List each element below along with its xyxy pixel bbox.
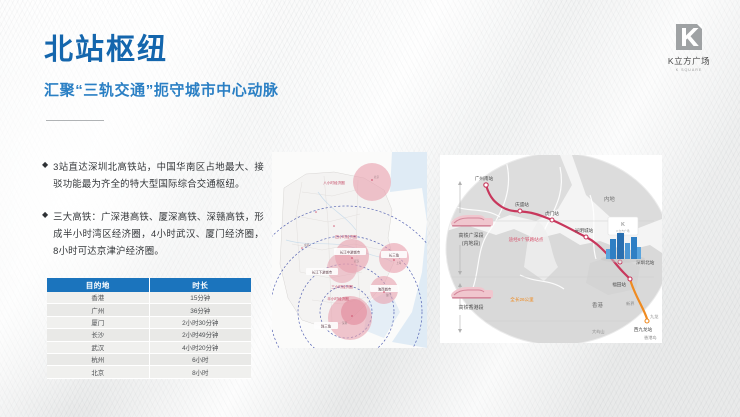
station-dot-qingsheng [518, 209, 522, 213]
logo-k-icon [674, 22, 704, 52]
note-mainland: 途经6个铁路站点 [509, 236, 544, 243]
diamond-bullet-icon: ◆ [42, 158, 48, 192]
svg-text:深圳: 深圳 [342, 321, 348, 325]
region-label-mainland: 内地 [604, 195, 615, 203]
cell-duration: 2小时49分钟 [149, 329, 251, 341]
cell-destination: 厦门 [47, 316, 149, 328]
bullet-text: 3站直达深圳北高铁站，中国华南区占地最大、接驳功能最为齐全的特大型国际综合交通枢… [53, 158, 264, 192]
region-label-hongkong: 香港 [592, 301, 603, 309]
china-economic-circle-map: 八小时经济圈 四小时经济圈 三小时经济圈 半小时经济圈 长江中游城市 长三角 海… [272, 152, 427, 348]
page-subtitle: 汇聚“三轨交通”扼守城市中心动脉 [44, 83, 279, 98]
ring-label: 三小时经济圈 [331, 284, 353, 289]
svg-text:成都: 成都 [304, 243, 310, 247]
cell-destination: 武汉 [47, 341, 149, 353]
cell-duration: 15分钟 [149, 292, 251, 304]
ring-label: 半小时经济圈 [327, 296, 349, 301]
segment-label-mainland-2: (内地段) [462, 240, 481, 247]
bullet-text: 三大高铁：广深港高铁、厦深高铁、深赣高铁，形成半小时湾区经济圈，4小时武汉、厦门… [53, 208, 264, 259]
station-dot-west-kowloon [645, 319, 649, 323]
travel-time-table: 目的地 时长 香港 15分钟 广州 36分钟 厦门 2小时30分钟 长沙 2小时… [47, 278, 251, 379]
table-header-duration: 时长 [149, 278, 251, 292]
cell-destination: 长沙 [47, 329, 149, 341]
table-header-row: 目的地 时长 [47, 278, 251, 292]
rail-line-map: 高铁广深段 (内地段) 高铁香港段 途经6个铁路站点 全长26公里 内地 香港 [440, 155, 662, 343]
svg-text:上海: 上海 [396, 261, 402, 265]
table-row: 香港 15分钟 [47, 292, 251, 304]
logo-tagline: K SQUARE [656, 68, 722, 72]
table-row: 北京 8小时 [47, 366, 251, 378]
rail-map-svg: 高铁广深段 (内地段) 高铁香港段 途经6个铁路站点 全长26公里 内地 香港 [440, 155, 662, 343]
station-dot-futian [628, 277, 632, 281]
svg-text:武汉: 武汉 [354, 259, 360, 263]
logo-name: K立方广场 [656, 55, 722, 67]
svg-text:北京: 北京 [374, 175, 380, 179]
ring-label: 四小时经济圈 [335, 234, 357, 239]
station-label: 福田站 [612, 281, 626, 288]
title-divider [46, 120, 104, 121]
table-row: 厦门 2小时30分钟 [47, 316, 251, 328]
bubble-label: 长江下游城市 [312, 269, 333, 274]
china-map-svg: 八小时经济圈 四小时经济圈 三小时经济圈 半小时经济圈 长江中游城市 长三角 海… [272, 152, 427, 348]
cell-destination: 北京 [47, 366, 149, 378]
bubble-label: 长三角 [389, 252, 399, 257]
table-row: 长沙 2小时49分钟 [47, 329, 251, 341]
station-label: 西九龙站 [634, 326, 653, 333]
cell-duration: 4小时20分钟 [149, 341, 251, 353]
station-dot-guangzhou-south [484, 183, 488, 187]
cell-destination: 杭州 [47, 353, 149, 365]
station-dot-guangmingcheng [584, 235, 588, 239]
station-label: 庆盛站 [515, 201, 529, 208]
bullet-list: ◆ 3站直达深圳北高铁站，中国华南区占地最大、接驳功能最为齐全的特大型国际综合交… [42, 158, 264, 275]
place-label: 大屿山 [592, 328, 605, 335]
bullet-item: ◆ 3站直达深圳北高铁站，中国华南区占地最大、接驳功能最为齐全的特大型国际综合交… [42, 158, 264, 192]
cell-destination: 广州 [47, 304, 149, 316]
svg-text:厦门: 厦门 [386, 293, 392, 297]
station-dot-humen [550, 218, 554, 222]
brand-logo: K立方广场 K SQUARE [656, 22, 722, 72]
cell-duration: 6小时 [149, 353, 251, 365]
segment-label-hongkong: 高铁香港段 [458, 304, 483, 311]
station-label: 光明城站 [575, 227, 594, 234]
station-label: 虎门站 [545, 210, 559, 217]
ring-label: 八小时经济圈 [323, 180, 345, 185]
segment-label-mainland: 高铁广深段 [458, 232, 483, 239]
table-row: 广州 36分钟 [47, 304, 251, 316]
note-hongkong: 全长26公里 [510, 296, 534, 303]
cell-destination: 香港 [47, 292, 149, 304]
station-label: 广州南站 [475, 175, 494, 182]
slide-canvas: K立方广场 K SQUARE 北站枢纽 汇聚“三轨交通”扼守城市中心动脉 ◆ 3… [0, 0, 740, 417]
cell-duration: 36分钟 [149, 304, 251, 316]
bubble-label: 珠三角 [321, 323, 331, 328]
place-label: 香港岛 [644, 334, 657, 341]
diamond-bullet-icon: ◆ [42, 208, 48, 259]
place-label: 新界 [626, 300, 635, 307]
table-row: 杭州 6小时 [47, 353, 251, 365]
bubble-label: 长江中游城市 [340, 249, 361, 254]
table-header-destination: 目的地 [47, 278, 149, 292]
cell-duration: 2小时30分钟 [149, 316, 251, 328]
project-marker-label: K立方广场 [616, 229, 629, 233]
page-title: 北站枢纽 [44, 36, 168, 65]
table-row: 武汉 4小时20分钟 [47, 341, 251, 353]
bubble-label: 海西城市 [378, 286, 392, 291]
place-label: 九龙 [650, 313, 659, 320]
svg-text:K: K [621, 222, 625, 228]
cell-duration: 8小时 [149, 366, 251, 378]
bullet-item: ◆ 三大高铁：广深港高铁、厦深高铁、深赣高铁，形成半小时湾区经济圈，4小时武汉、… [42, 208, 264, 259]
